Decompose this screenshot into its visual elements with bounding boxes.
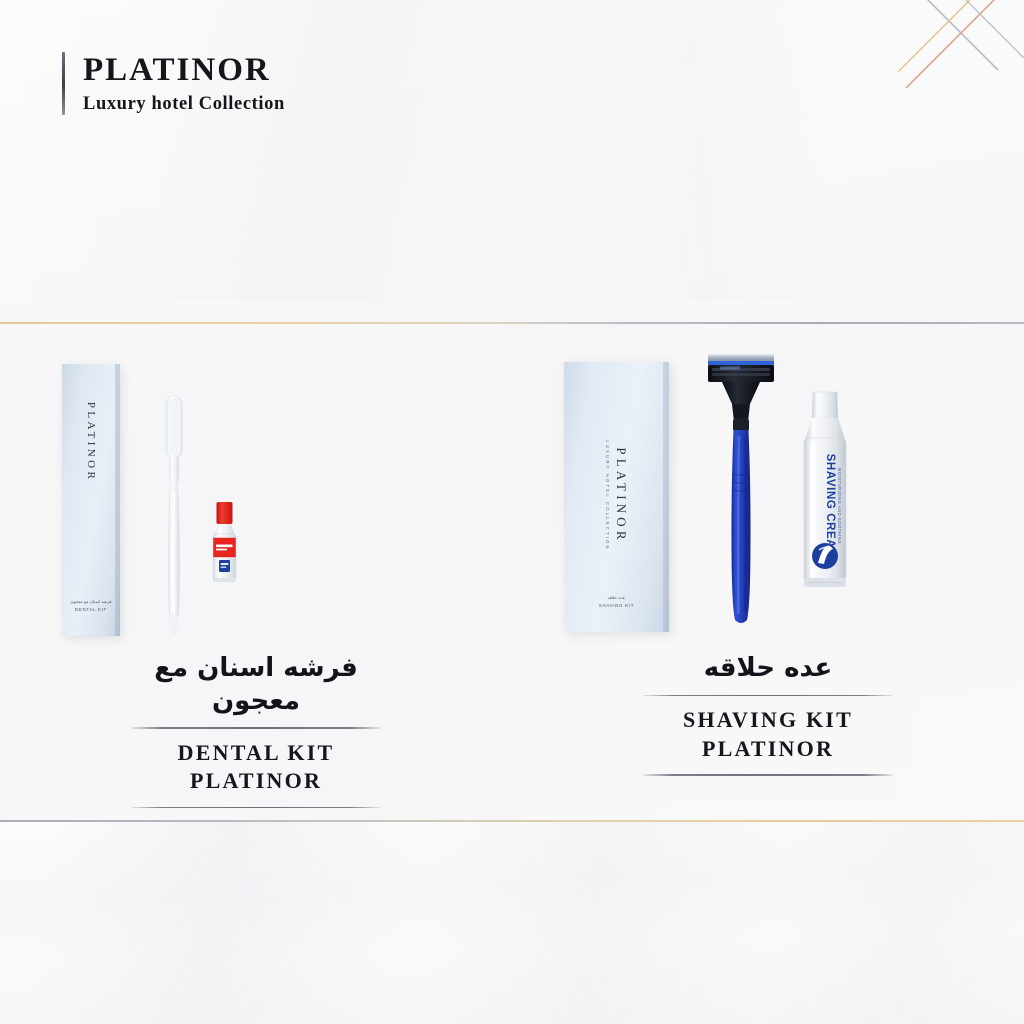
- background-texture-top: [0, 0, 1024, 300]
- toothpaste-tube: [208, 500, 242, 589]
- shaving-box-arabic-label: عده حلاقه: [564, 595, 669, 601]
- shaving-cream-tube: SHAVING CREAM MOISTURIZING AND SOOTHING: [797, 388, 853, 599]
- dental-box-arabic-label: فرشة اسنان مع معجون: [62, 599, 120, 605]
- dental-kit-caption-english-line1: DENTAL KIT: [131, 739, 381, 768]
- shaving-kit-caption-english-line1: SHAVING KIT: [643, 706, 893, 735]
- svg-text:MOISTURIZING AND SOOTHING: MOISTURIZING AND SOOTHING: [837, 468, 842, 544]
- dental-box-english-label: DENTAL KIT: [62, 607, 120, 612]
- dental-kit-caption-rule-top: [131, 727, 381, 729]
- shaving-kit-caption-arabic: عده حلاقه: [643, 652, 893, 693]
- svg-text:SHAVING CREAM: SHAVING CREAM: [824, 454, 836, 559]
- shaving-kit-captions: عده حلاقه SHAVING KIT PLATINOR: [643, 652, 893, 776]
- shaving-kit-caption-english-line2: PLATINOR: [643, 735, 893, 764]
- divider-top: [0, 322, 1024, 324]
- corner-line-decoration: [894, 0, 1024, 115]
- shaving-box-brand-label: PLATINOR: [613, 440, 629, 550]
- brand-accent-bar: [62, 52, 65, 115]
- brand-tagline: Luxury hotel Collection: [83, 94, 285, 115]
- background-texture-bottom: [0, 820, 1024, 1024]
- shaving-box-english-label: SHAVING KIT: [564, 603, 669, 608]
- brand-name: PLATINOR: [83, 52, 285, 89]
- shaving-box-bottom-text: عده حلاقه SHAVING KIT: [564, 595, 669, 608]
- product-shaving-kit[interactable]: PLATINOR LUXURY HOTEL COLLECTION عده حلا…: [512, 340, 1024, 810]
- catalog-page: PLATINOR Luxury hotel Collection PLATINO…: [0, 0, 1024, 1024]
- shaving-kit-box: PLATINOR LUXURY HOTEL COLLECTION عده حلا…: [564, 362, 669, 632]
- razor: [702, 348, 780, 635]
- dental-kit-captions: فرشه اسنان مع معجون DENTAL KIT PLATINOR: [131, 652, 381, 808]
- shaving-kit-caption-rule-bottom: [643, 774, 893, 776]
- dental-box-bottom-text: فرشة اسنان مع معجون DENTAL KIT: [62, 599, 120, 612]
- shaving-kit-caption-rule-top: [643, 695, 893, 697]
- dental-kit-box: PLATINOR فرشة اسنان مع معجون DENTAL KIT: [62, 364, 120, 636]
- shaving-kit-image: PLATINOR LUXURY HOTEL COLLECTION عده حلا…: [512, 340, 1024, 640]
- shaving-box-brand-sublabel: LUXURY HOTEL COLLECTION: [605, 440, 610, 550]
- divider-bottom: [0, 820, 1024, 822]
- shaving-box-brand-block: PLATINOR LUXURY HOTEL COLLECTION: [605, 440, 629, 550]
- toothbrush: [156, 392, 192, 645]
- product-dental-kit[interactable]: PLATINOR فرشة اسنان مع معجون DENTAL KIT: [0, 340, 512, 810]
- dental-box-brand-label: PLATINOR: [85, 402, 97, 482]
- brand-header: PLATINOR Luxury hotel Collection: [62, 52, 285, 115]
- dental-kit-caption-rule-bottom: [131, 807, 381, 809]
- product-row: PLATINOR فرشة اسنان مع معجون DENTAL KIT: [0, 340, 1024, 810]
- dental-kit-caption-arabic: فرشه اسنان مع معجون: [131, 652, 381, 725]
- dental-kit-caption-english-line2: PLATINOR: [131, 767, 381, 796]
- dental-kit-image: PLATINOR فرشة اسنان مع معجون DENTAL KIT: [0, 340, 512, 640]
